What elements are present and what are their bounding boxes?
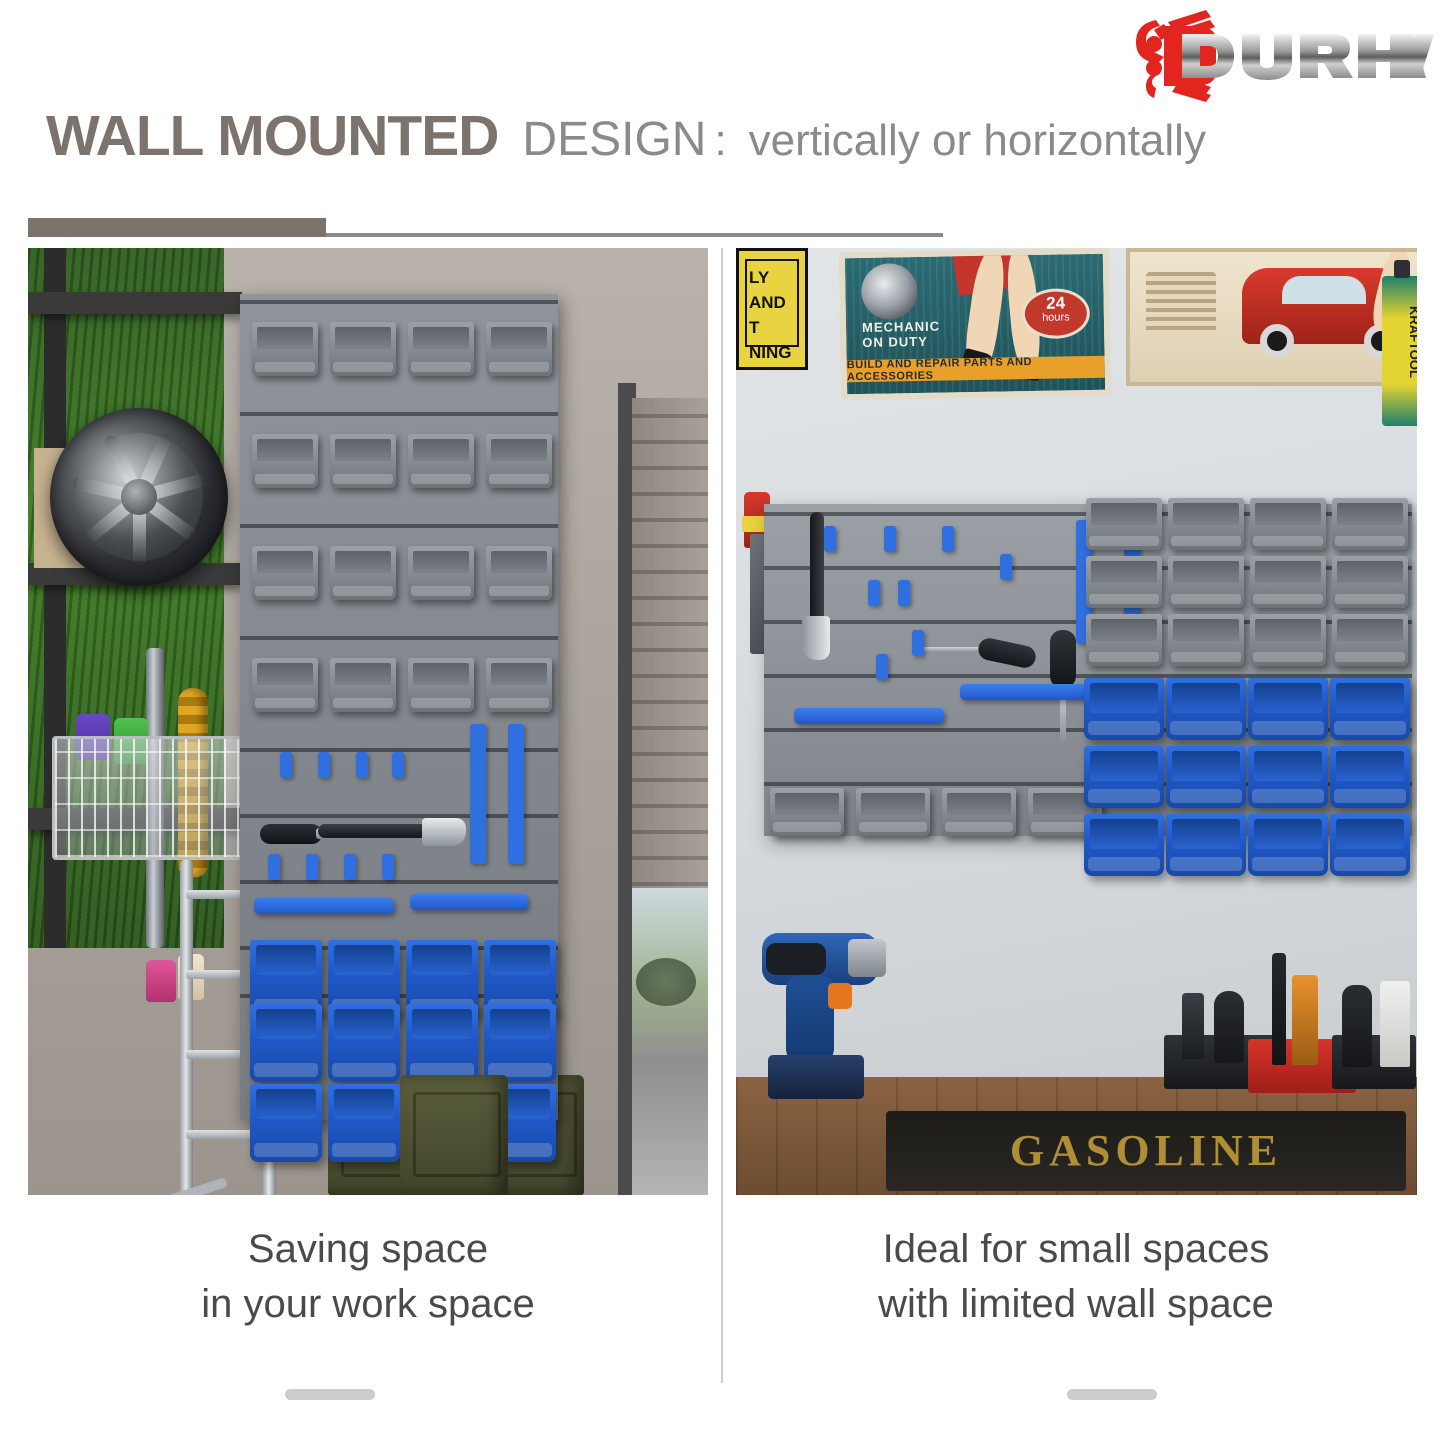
blue-bit-holder: [794, 708, 944, 724]
gray-storage-bin: [252, 546, 318, 600]
gray-storage-bin: [330, 546, 396, 600]
gray-storage-bin: [486, 434, 552, 488]
headline-strong: WALL MOUNTED: [46, 108, 498, 165]
blue-storage-bin: [1166, 746, 1246, 808]
hammer-tool: [736, 512, 830, 552]
sanfor-bottle: [1342, 985, 1372, 1067]
blue-hook: [318, 752, 330, 778]
blue-storage-bin: [1330, 746, 1410, 808]
shelf-board: [28, 292, 242, 314]
kraftool-spray-can: KRAFTOOL: [1382, 276, 1417, 426]
sign-banner: BUILD AND REPAIR PARTS AND ACCESSORIES: [847, 356, 1105, 382]
durhand-wordmark: [1182, 34, 1434, 80]
floor-mat-text: GASOLINE: [886, 1125, 1406, 1176]
blue-hook: [280, 752, 292, 778]
gray-storage-bin: [1332, 614, 1408, 666]
wrench-circuit-icon: [1136, 10, 1216, 102]
gray-storage-bin: [1250, 498, 1326, 550]
photo-right-horizontal-install: GASOLINE LYANDTNING 24hours MECHANICON D…: [736, 248, 1417, 1195]
gray-storage-bin: [770, 788, 844, 836]
gray-storage-bin: [330, 322, 396, 376]
caption-left-line2: in your work space: [28, 1277, 708, 1332]
gray-storage-bin: [252, 434, 318, 488]
warning-sign: LYANDTNING: [736, 248, 808, 370]
gray-storage-bin: [252, 322, 318, 376]
blue-hook: [344, 854, 356, 880]
blue-storage-bin: [328, 1084, 400, 1162]
rule-thin: [326, 233, 943, 237]
blue-storage-bin: [250, 1084, 322, 1162]
gray-storage-bin: [252, 658, 318, 712]
blue-storage-bin: [1084, 678, 1164, 740]
vintage-car-sign: [1126, 248, 1417, 386]
blue-hook: [356, 752, 368, 778]
blue-hook: [824, 526, 836, 552]
gray-storage-bin: [330, 658, 396, 712]
gray-storage-bin: [1250, 614, 1326, 666]
sign-banner-text: BUILD AND REPAIR PARTS AND ACCESSORIES: [847, 355, 1105, 383]
blue-hook: [898, 580, 910, 606]
cordless-drill: [752, 909, 880, 1099]
hammer-tool: [318, 818, 468, 848]
wire-basket: [52, 736, 254, 860]
gray-storage-bin: [1086, 498, 1162, 550]
durhand-logo: [1124, 8, 1434, 104]
blue-storage-bin: [1248, 746, 1328, 808]
lockfix-tube: [1380, 981, 1410, 1067]
gray-storage-bin: [486, 658, 552, 712]
alloy-wheel: [50, 408, 228, 586]
outdoor-view: [632, 888, 708, 1195]
gray-storage-bin: [1086, 556, 1162, 608]
mechanic-on-duty-text: MECHANICON DUTY: [862, 319, 941, 350]
blue-hook: [382, 854, 394, 880]
blue-storage-bin: [1330, 814, 1410, 876]
rule-thick: [28, 218, 326, 237]
indicator-pill-right: [1067, 1389, 1157, 1400]
glue-tube: [1292, 975, 1318, 1065]
blue-hook: [1000, 554, 1012, 580]
sealant-tube: [1182, 993, 1204, 1059]
gray-storage-bin: [1168, 614, 1244, 666]
blue-storage-bin: [250, 1004, 322, 1082]
headline-light: vertically or horizontally: [749, 119, 1206, 163]
blue-tool-rail: [254, 898, 394, 914]
headline-colon: :: [714, 119, 726, 163]
bottle: [146, 960, 176, 1002]
gray-storage-bin: [1250, 556, 1326, 608]
blue-storage-bin: [484, 1004, 556, 1082]
vintage-tin-sign: 24hours MECHANICON DUTY BUILD AND REPAIR…: [839, 248, 1112, 400]
blue-hook: [392, 752, 404, 778]
bench-grinder: [38, 1178, 248, 1195]
blue-storage-bin: [1248, 814, 1328, 876]
indicator-pill-left: [285, 1389, 375, 1400]
floor-mat: GASOLINE: [886, 1111, 1406, 1191]
caption-right: Ideal for small spaces with limited wall…: [736, 1222, 1416, 1332]
blue-hook: [876, 654, 888, 680]
hacksaw-tool: [914, 518, 1024, 658]
blue-storage-bin: [406, 1004, 478, 1082]
gray-storage-bin: [1086, 614, 1162, 666]
blue-hook: [268, 854, 280, 880]
gray-storage-bin: [408, 322, 474, 376]
blue-hook: [942, 526, 954, 552]
blue-storage-bin: [1084, 746, 1164, 808]
blue-storage-bin: [1166, 678, 1246, 740]
spray-brand-text: KRAFTOOL: [1382, 306, 1417, 378]
gray-storage-bin: [408, 546, 474, 600]
warning-sign-text: LYANDTNING: [749, 265, 792, 365]
page-title: WALL MOUNTED DESIGN : vertically or hori…: [46, 108, 1406, 180]
photo-left-vertical-install: [28, 248, 708, 1195]
blue-storage-bin: [1330, 678, 1410, 740]
caption-left-line1: Saving space: [28, 1222, 708, 1277]
panel-divider: [721, 248, 723, 1383]
product-marketing-page: WALL MOUNTED DESIGN : vertically or hori…: [0, 0, 1445, 1445]
header-rule: [28, 218, 943, 240]
gray-storage-bin: [486, 546, 552, 600]
blue-rail-hook: [470, 724, 486, 864]
gray-storage-bin: [942, 788, 1016, 836]
gray-storage-bin: [486, 322, 552, 376]
caption-left: Saving space in your work space: [28, 1222, 708, 1332]
oil-bottle: [1214, 991, 1244, 1063]
gray-storage-bin: [408, 658, 474, 712]
gray-storage-bin: [1168, 498, 1244, 550]
caption-right-line1: Ideal for small spaces: [736, 1222, 1416, 1277]
blue-hook: [306, 854, 318, 880]
blue-storage-bin: [1248, 678, 1328, 740]
blue-bit-holder: [410, 894, 528, 910]
headline-mid: DESIGN: [522, 116, 706, 164]
blue-hook: [912, 630, 924, 656]
blue-storage-bin: [1166, 814, 1246, 876]
caption-right-line2: with limited wall space: [736, 1277, 1416, 1332]
gray-storage-bin: [856, 788, 930, 836]
gray-storage-bin: [1332, 556, 1408, 608]
gray-storage-bin: [1168, 556, 1244, 608]
gray-storage-bin: [408, 434, 474, 488]
gray-storage-bin: [1332, 498, 1408, 550]
gray-storage-bin: [330, 434, 396, 488]
blue-storage-bin: [328, 1004, 400, 1082]
jerry-can: [400, 1075, 508, 1195]
badge-text: 24hours: [1025, 295, 1088, 326]
blue-storage-bin: [1084, 814, 1164, 876]
blue-hook: [868, 580, 880, 606]
blue-hook: [884, 526, 896, 552]
blue-rail-hook: [508, 724, 524, 864]
pegboard-vertical: [240, 294, 558, 1120]
caulk-gun-tip: [1272, 953, 1286, 1065]
